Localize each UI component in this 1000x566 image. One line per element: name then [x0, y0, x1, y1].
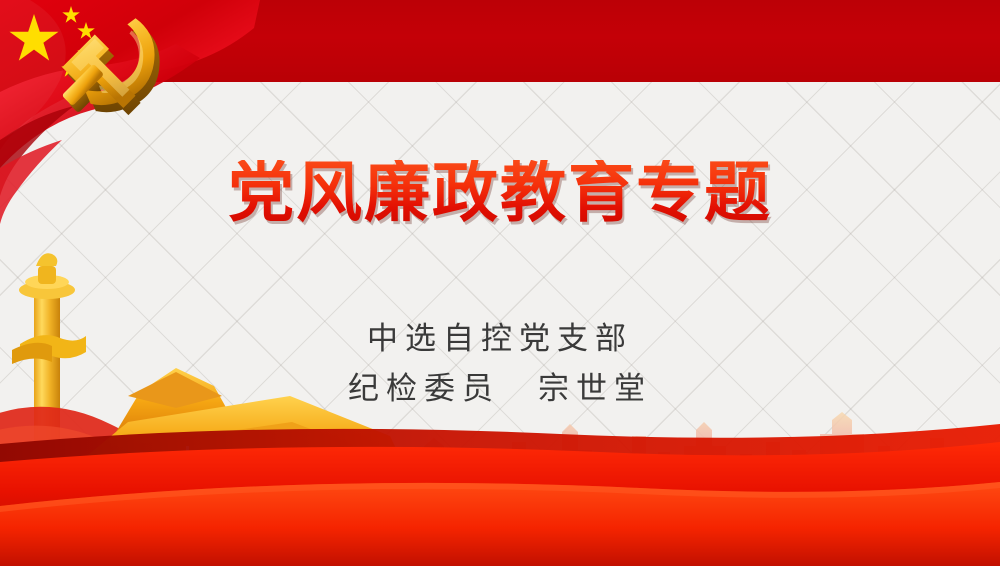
- flag-and-emblem: [0, 0, 400, 300]
- slide-canvas: 中华人民共和国万岁: [0, 0, 1000, 566]
- subtitle-block: 中选自控党支部 纪检委员 宗世堂: [0, 314, 1000, 414]
- subtitle-line-1: 中选自控党支部: [367, 321, 633, 357]
- page-title: 党风廉政教育专题: [0, 160, 1000, 226]
- subtitle-line-2: 纪检委员 宗世堂: [0, 364, 1000, 414]
